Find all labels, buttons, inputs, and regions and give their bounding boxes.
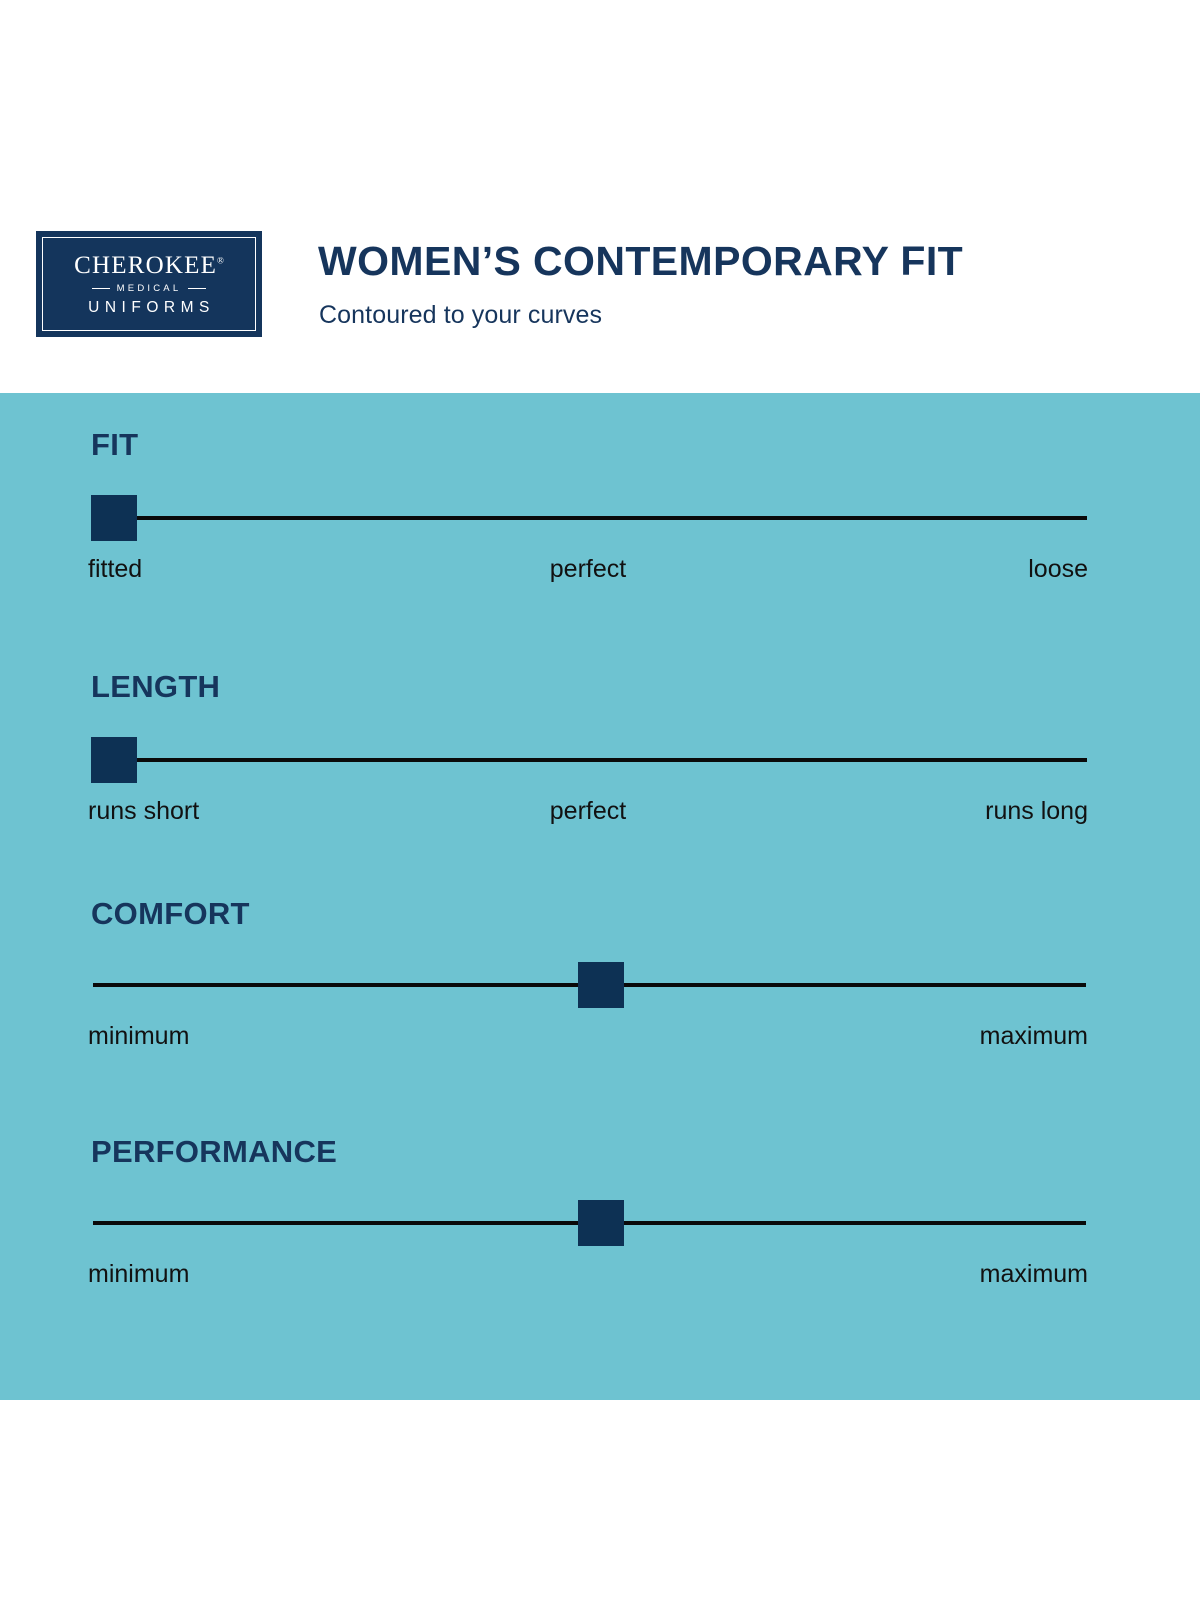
page-subtitle: Contoured to your curves — [319, 300, 602, 330]
slider-scale-labels-performance: minimum maximum — [88, 1262, 1088, 1296]
fit-attributes-panel: FIT fitted perfect loose LENGTH runs sho… — [0, 393, 1200, 1400]
header-banner: CHEROKEE® MEDICAL UNIFORMS WOMEN’S CONTE… — [0, 0, 1200, 393]
slider-track-length — [93, 758, 1087, 762]
slider-heading-fit: FIT — [91, 429, 138, 460]
logo-medical-row: MEDICAL — [92, 284, 207, 294]
slider-label-right-performance: maximum — [980, 1262, 1088, 1287]
slider-track-area-comfort[interactable] — [93, 954, 1087, 1014]
slider-heading-performance: PERFORMANCE — [91, 1136, 337, 1167]
slider-label-left-performance: minimum — [88, 1262, 189, 1287]
slider-handle-length[interactable] — [91, 737, 137, 783]
slider-label-right-fit: loose — [1028, 557, 1088, 582]
logo-medical-text: MEDICAL — [117, 284, 182, 294]
slider-label-right-length: runs long — [985, 799, 1088, 824]
slider-label-mid-fit: perfect — [550, 557, 626, 582]
page-title: WOMEN’S CONTEMPORARY FIT — [318, 240, 963, 283]
slider-label-right-comfort: maximum — [980, 1024, 1088, 1049]
slider-handle-comfort[interactable] — [578, 962, 624, 1008]
slider-track-area-fit[interactable] — [91, 487, 1087, 547]
logo-uniforms-text: UNIFORMS — [83, 300, 215, 316]
slider-handle-fit[interactable] — [91, 495, 137, 541]
slider-heading-comfort: COMFORT — [91, 898, 250, 929]
logo-inner-border: CHEROKEE® MEDICAL UNIFORMS — [42, 237, 256, 331]
slider-track-fit — [93, 516, 1087, 520]
logo-rule-right-divider — [188, 288, 206, 289]
slider-label-left-comfort: minimum — [88, 1024, 189, 1049]
slider-label-mid-length: perfect — [550, 799, 626, 824]
slider-scale-labels-comfort: minimum maximum — [88, 1024, 1088, 1058]
logo-brand-name: CHEROKEE® — [74, 253, 224, 278]
logo-rule-left-divider — [92, 288, 110, 289]
slider-handle-performance[interactable] — [578, 1200, 624, 1246]
slider-label-left-fit: fitted — [88, 557, 142, 582]
slider-heading-length: LENGTH — [91, 671, 220, 702]
cherokee-logo: CHEROKEE® MEDICAL UNIFORMS — [36, 231, 262, 337]
slider-track-area-length[interactable] — [91, 729, 1087, 789]
slider-scale-labels-length: runs short perfect runs long — [88, 799, 1088, 833]
registered-trademark-icon: ® — [217, 255, 224, 265]
slider-label-left-length: runs short — [88, 799, 199, 824]
slider-scale-labels-fit: fitted perfect loose — [88, 557, 1088, 591]
slider-track-area-performance[interactable] — [93, 1192, 1087, 1252]
logo-brand-text: CHEROKEE — [74, 252, 217, 279]
